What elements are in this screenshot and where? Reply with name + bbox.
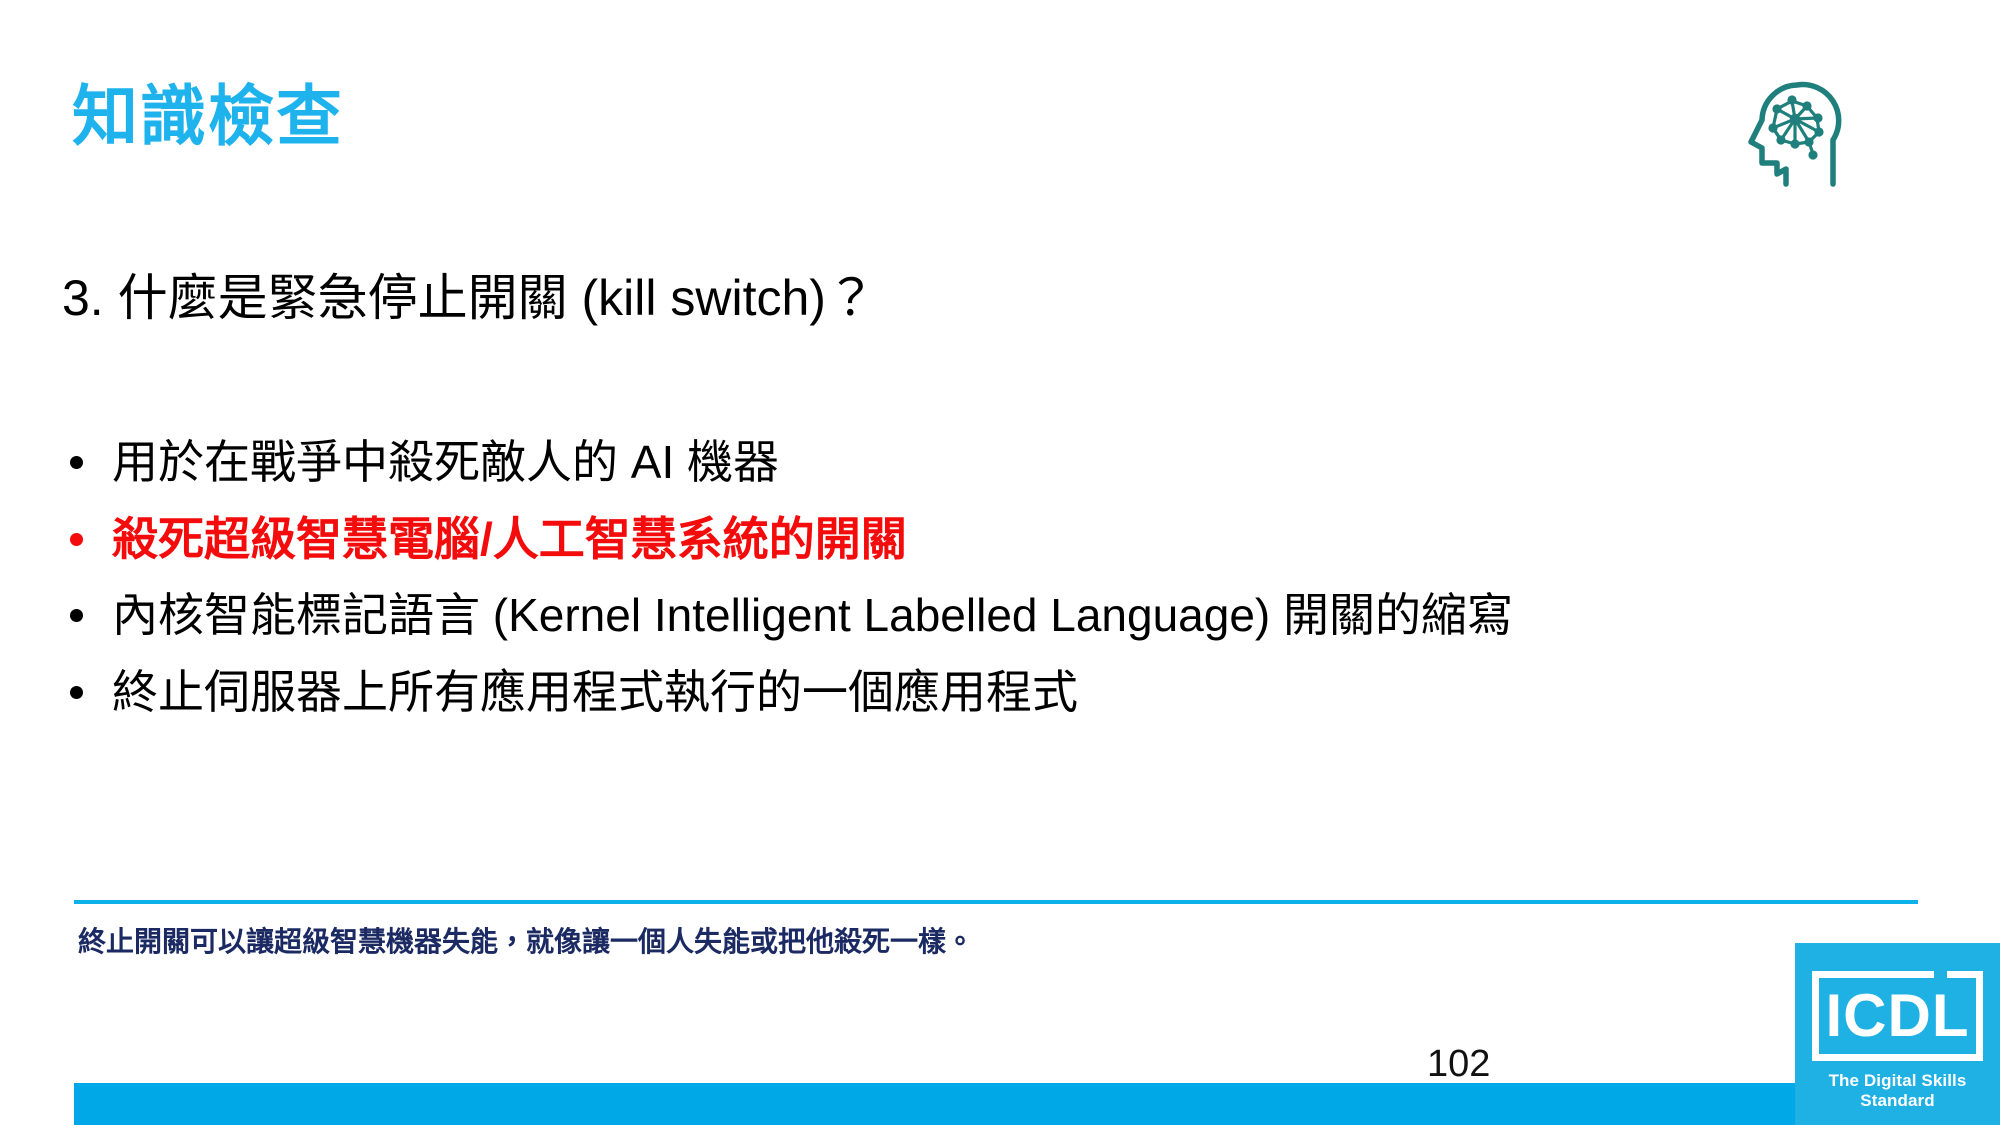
bullet-icon <box>70 686 83 699</box>
answer-option-label: 用於在戰爭中殺死敵人的 AI 機器 <box>112 436 779 488</box>
answer-option[interactable]: 用於在戰爭中殺死敵人的 AI 機器 <box>62 432 1902 493</box>
brain-head-icon <box>1735 62 1875 187</box>
icdl-logo-frame: ICDL <box>1812 971 1983 1061</box>
answer-options-list: 用於在戰爭中殺死敵人的 AI 機器 殺死超級智慧電腦/人工智慧系統的開關 內核智… <box>62 432 1902 723</box>
answer-option-label: 終止伺服器上所有應用程式執行的一個應用程式 <box>112 666 1078 718</box>
bullet-icon <box>70 456 83 469</box>
icdl-logo: ICDL The Digital Skills Standard <box>1795 943 2000 1125</box>
bullet-icon <box>70 609 83 622</box>
page-number: 102 <box>1427 1043 1490 1086</box>
divider <box>74 900 1918 904</box>
slide-canvas: 知識檢查 <box>0 0 2000 1125</box>
page-title: 知識檢查 <box>72 82 344 151</box>
footnote-text: 終止開關可以讓超級智慧機器失能，就像讓一個人失能或把他殺死一樣。 <box>78 922 1178 962</box>
icdl-wordmark: ICDL <box>1812 971 1983 1061</box>
answer-option-label: 內核智能標記語言 (Kernel Intelligent Labelled La… <box>112 589 1513 641</box>
question-text: 3. 什麼是緊急停止開關 (kill switch)？ <box>62 268 876 328</box>
answer-option[interactable]: 終止伺服器上所有應用程式執行的一個應用程式 <box>62 662 1902 723</box>
icdl-tagline: The Digital Skills Standard <box>1795 1071 2000 1111</box>
answer-option-correct[interactable]: 殺死超級智慧電腦/人工智慧系統的開關 <box>62 509 1902 570</box>
bottom-accent-bar <box>74 1083 2000 1125</box>
answer-option[interactable]: 內核智能標記語言 (Kernel Intelligent Labelled La… <box>62 585 1902 646</box>
answer-option-label: 殺死超級智慧電腦/人工智慧系統的開關 <box>112 513 907 565</box>
bullet-icon <box>70 533 83 546</box>
